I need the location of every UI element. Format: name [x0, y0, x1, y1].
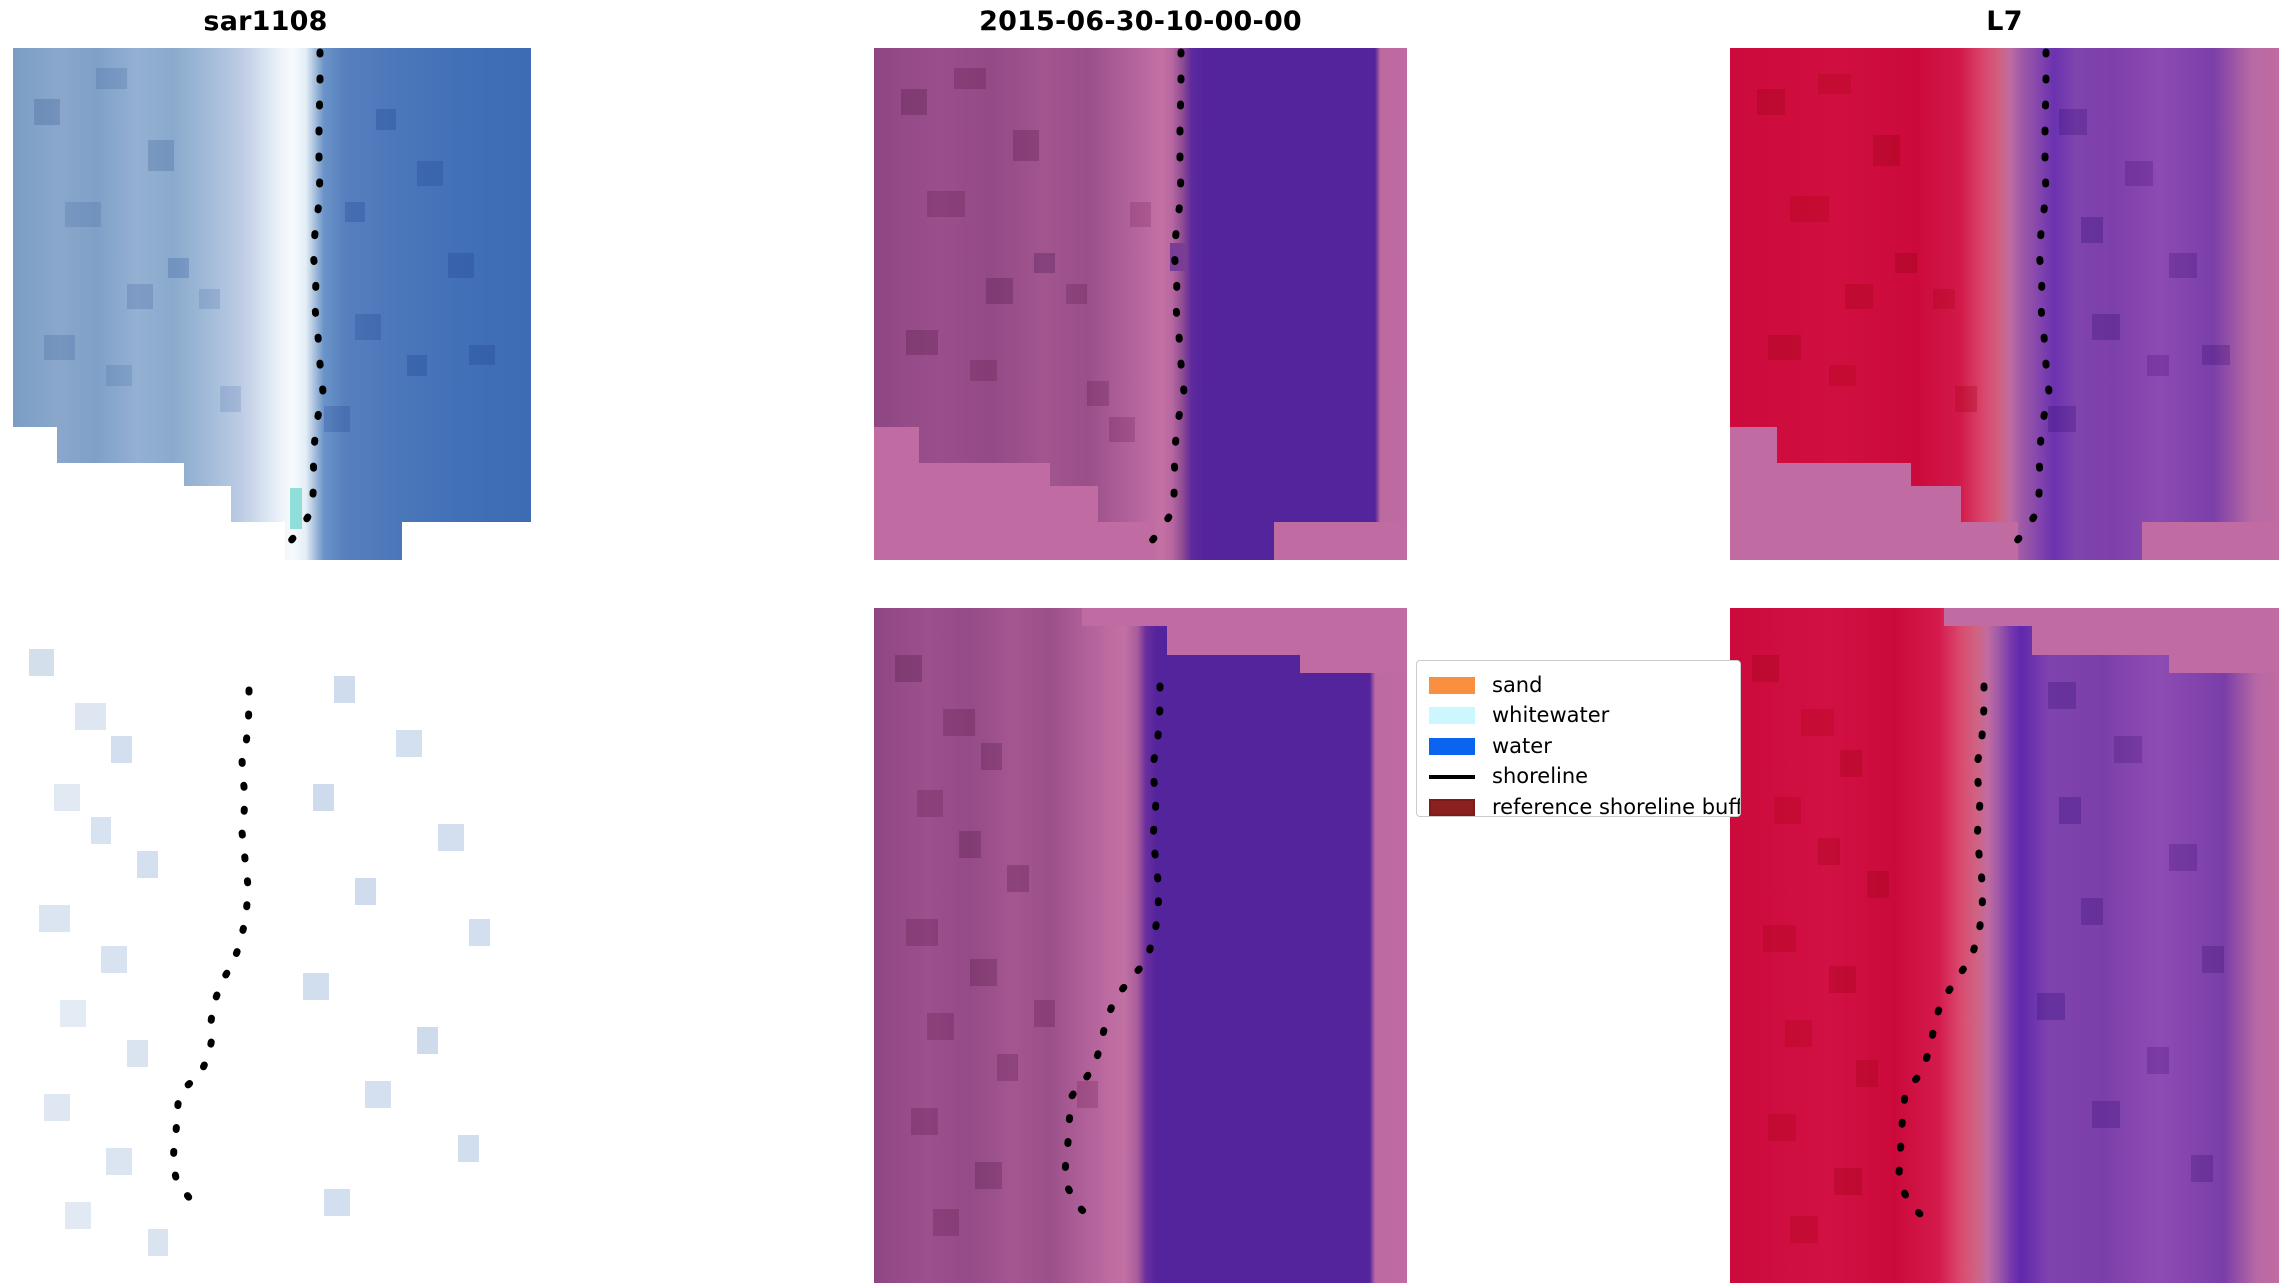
legend-item-reference-shoreline-buffer[interactable]: reference shoreline buff — [1417, 792, 1740, 817]
legend-item-water[interactable]: water — [1417, 731, 1740, 762]
l7-lower-image — [1730, 608, 2279, 1283]
l7-upper-image — [1730, 48, 2279, 560]
panel-l7[interactable] — [1730, 48, 2279, 1283]
panel-classified[interactable] — [874, 48, 1407, 1283]
panel-sar[interactable] — [0, 48, 531, 1283]
sar-upper-cut-6 — [469, 540, 531, 560]
classified-lower-noise — [874, 608, 1407, 1283]
l7-upper-buffer-6 — [2213, 540, 2279, 560]
color-swatch-icon — [1429, 707, 1475, 724]
legend-item-shoreline[interactable]: shoreline — [1417, 762, 1740, 793]
sar-upper-image — [13, 48, 531, 560]
legend-label-water: water — [1492, 736, 1552, 757]
legend-label-shoreline: shoreline — [1492, 766, 1588, 787]
legend-item-whitewater[interactable]: whitewater — [1417, 701, 1740, 732]
color-swatch-icon — [1429, 677, 1475, 694]
legend-label-whitewater: whitewater — [1492, 705, 1609, 726]
classified-buffer-band-6 — [1343, 540, 1407, 560]
sar-upper-cut-4 — [13, 522, 285, 560]
l7-lower-buffer-3 — [2169, 608, 2279, 673]
color-swatch-icon — [1429, 799, 1475, 816]
classified-lower-buffer-3 — [1300, 608, 1407, 673]
classified-lower-image — [874, 608, 1407, 1283]
classified-buffer-band-4 — [874, 522, 1154, 560]
line-swatch-icon — [1429, 775, 1475, 779]
sar-teal-streak — [290, 488, 302, 529]
panel-title-classified: 2015-06-30-10-00-00 — [874, 6, 1407, 38]
l7-upper-buffer-4 — [1730, 522, 2018, 560]
legend-label-reference-shoreline-buffer: reference shoreline buff — [1492, 797, 1741, 817]
figure-canvas: sar1108 2015-06-30-10-00-00 L7 — [0, 0, 2279, 1283]
sar-lower-image — [13, 608, 531, 1283]
classified-water-notch — [1170, 243, 1187, 271]
l7-lower-noise — [1730, 608, 2279, 1283]
legend-box[interactable]: sand whitewater water shoreline referenc… — [1416, 660, 1741, 817]
legend-item-sand[interactable]: sand — [1417, 670, 1740, 701]
color-swatch-icon — [1429, 738, 1475, 755]
sar-lower-noise — [13, 608, 531, 1283]
panel-title-sar: sar1108 — [0, 6, 531, 38]
legend-label-sand: sand — [1492, 675, 1542, 696]
sar-lower-cut-3 — [427, 608, 531, 673]
panel-title-l7: L7 — [1730, 6, 2279, 38]
classified-upper-image — [874, 48, 1407, 560]
